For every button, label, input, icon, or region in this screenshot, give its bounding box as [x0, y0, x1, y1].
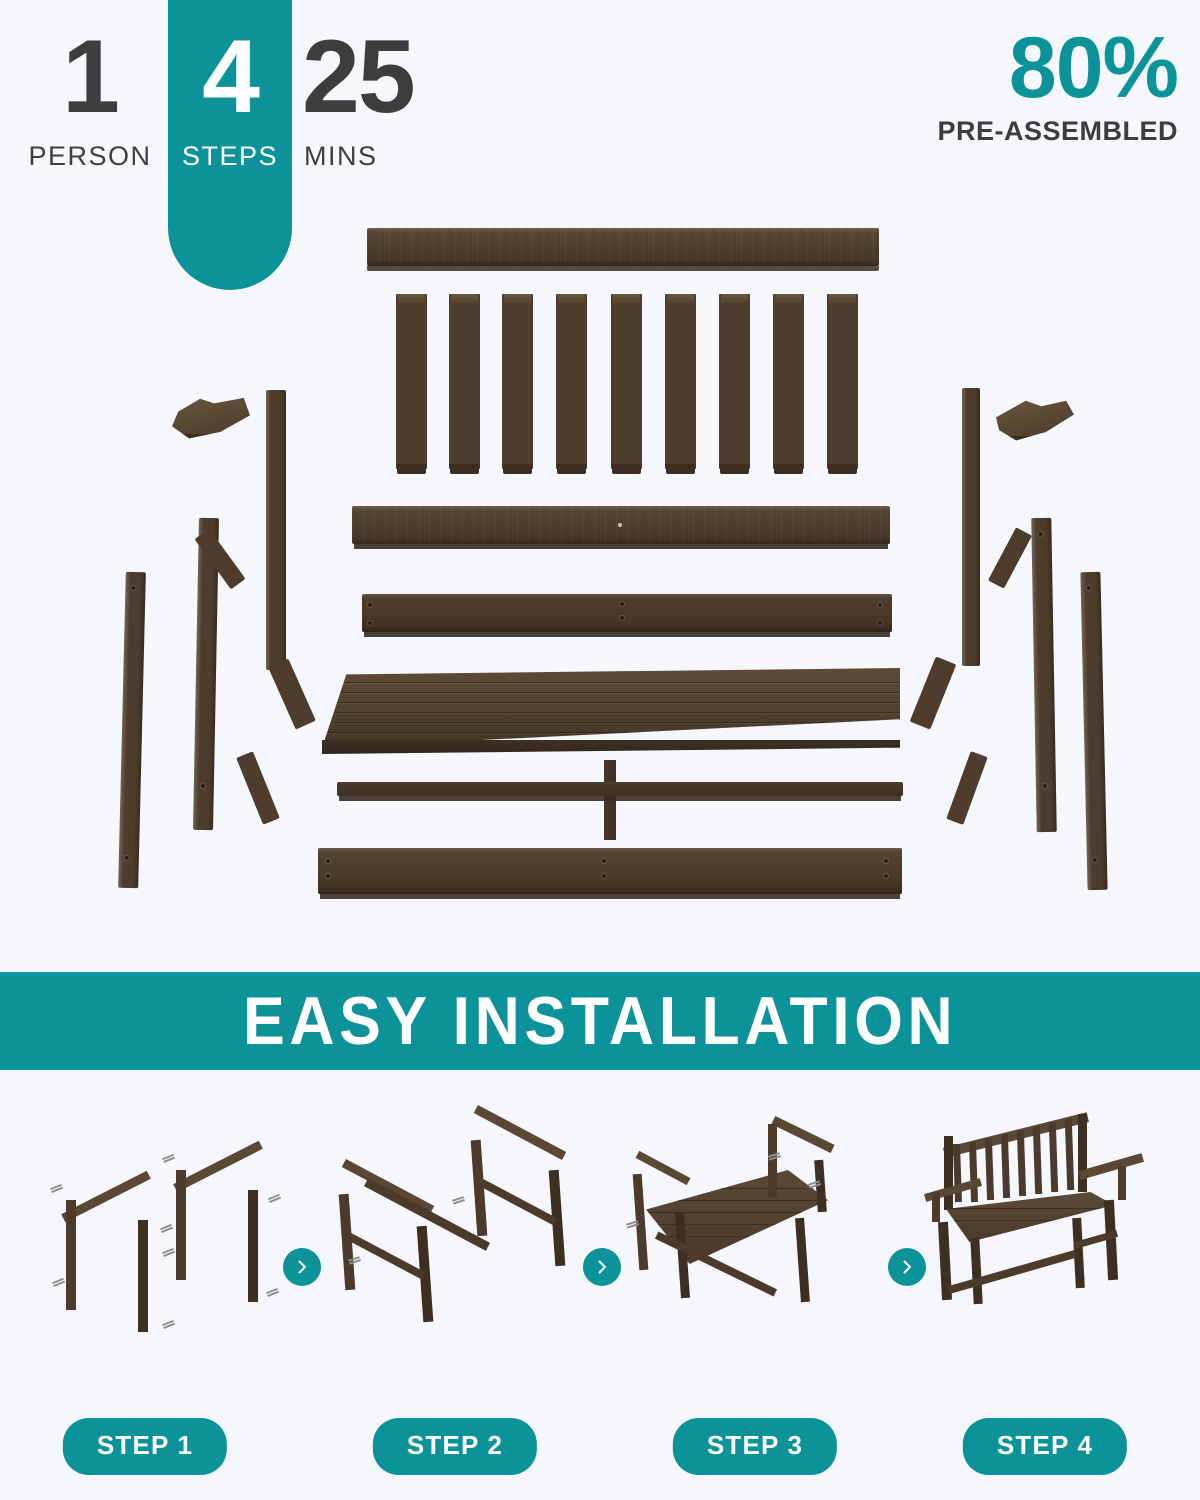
part-leg-post: [1080, 572, 1107, 890]
part-corner-block: [236, 751, 280, 825]
easy-installation-banner: EASY INSTALLATION: [0, 972, 1200, 1070]
part-back-slat: [719, 294, 750, 469]
step-arrow-1[interactable]: [283, 1248, 321, 1286]
part-back-slat: [396, 294, 427, 469]
banner-title: EASY INSTALLATION: [243, 982, 957, 1060]
part-seat-slat-panel: [322, 668, 900, 748]
part-armrest-cap: [172, 396, 250, 442]
stat-person-label: PERSON: [10, 141, 170, 172]
part-corner-block: [946, 751, 988, 825]
part-leg-post: [266, 390, 286, 670]
preassembled-caption: PRE-ASSEMBLED: [937, 116, 1178, 147]
step-3: STEP 3: [620, 1100, 890, 1500]
part-back-slat: [449, 294, 480, 469]
part-leg-post: [962, 388, 980, 666]
part-front-apron-rail: [337, 782, 903, 796]
part-corner-block: [910, 656, 957, 729]
chevron-right-icon: [594, 1259, 610, 1275]
stat-person: 1 PERSON: [10, 28, 170, 172]
part-leg-post: [118, 572, 146, 888]
part-corner-block: [268, 658, 316, 729]
part-arm-support: [988, 527, 1032, 588]
step-4: STEP 4: [910, 1100, 1180, 1500]
stat-mins: 25 MINS: [300, 28, 520, 172]
stat-steps-number: 4: [150, 28, 310, 127]
part-back-slat: [611, 294, 642, 469]
stat-mins-number: 25: [300, 28, 520, 127]
part-back-bottom-rail: [362, 594, 892, 632]
part-back-slat: [502, 294, 533, 469]
stat-mins-label: MINS: [300, 141, 520, 172]
part-back-bottom-rail: [352, 506, 890, 544]
step-1-pill: STEP 1: [63, 1418, 227, 1475]
installation-steps: STEP 1: [0, 1100, 1200, 1500]
step-3-illustration: [620, 1100, 890, 1310]
step-2: STEP 2: [320, 1100, 590, 1500]
step-3-pill: STEP 3: [673, 1418, 837, 1475]
part-back-top-rail: [367, 228, 879, 266]
chevron-right-icon: [294, 1259, 310, 1275]
part-back-slat: [827, 294, 858, 469]
stat-steps-label: STEPS: [150, 141, 310, 172]
infographic-page: 1 PERSON 4 STEPS 25 MINS 80% PRE-ASSEMBL…: [0, 0, 1200, 1500]
step-1: STEP 1: [10, 1100, 280, 1500]
part-front-apron-rail: [318, 848, 902, 894]
step-2-pill: STEP 2: [373, 1418, 537, 1475]
preassembled-callout: 80% PRE-ASSEMBLED: [937, 28, 1178, 147]
step-2-illustration: [320, 1100, 590, 1310]
stat-steps: 4 STEPS: [150, 28, 310, 172]
part-back-slat: [773, 294, 804, 469]
step-4-pill: STEP 4: [963, 1418, 1127, 1475]
part-leg-post: [1031, 518, 1056, 832]
step-1-illustration: [10, 1100, 280, 1310]
part-seat-front-edge: [322, 740, 900, 754]
step-arrow-2[interactable]: [583, 1248, 621, 1286]
preassembled-percent: 80%: [937, 28, 1178, 110]
step-4-illustration: [910, 1100, 1180, 1310]
exploded-parts-diagram: [0, 200, 1200, 965]
part-back-slat: [556, 294, 587, 469]
stat-person-number: 1: [10, 28, 170, 127]
part-back-slat: [665, 294, 696, 469]
part-armrest-cap: [996, 398, 1074, 444]
